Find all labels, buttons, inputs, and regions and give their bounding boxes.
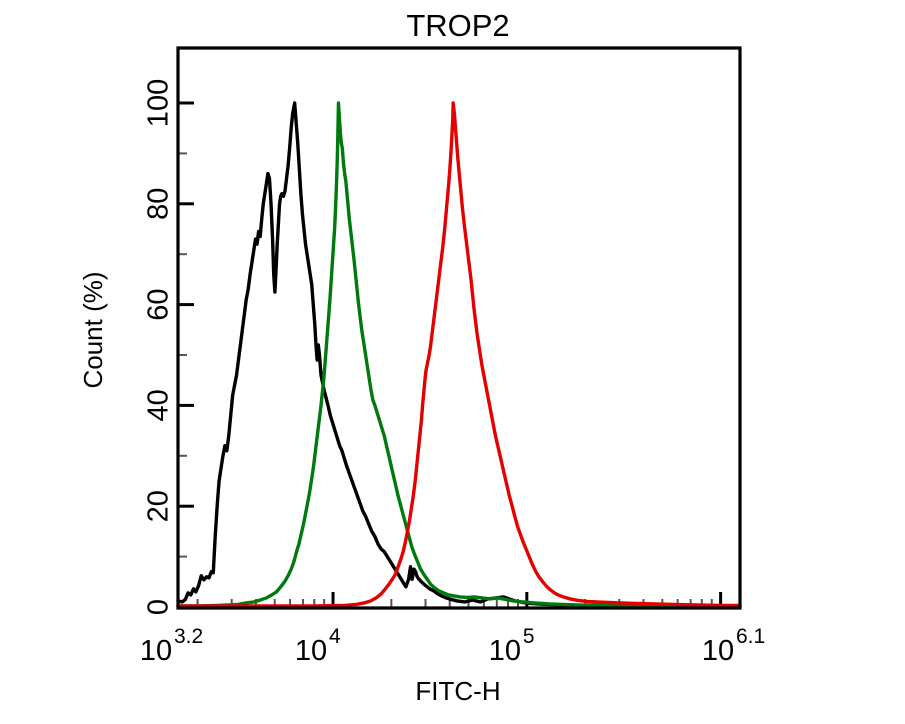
data-traces	[178, 103, 740, 606]
x-axis-label: FITC-H	[415, 676, 500, 706]
flow-cytometry-figure: TROP2 Count (%) FITC-H 103.2104105106.10…	[0, 0, 905, 724]
y-tick-label: 100	[143, 79, 175, 127]
tick-labels: 103.2104105106.1020406080100	[140, 79, 765, 667]
svg-text:10: 10	[489, 635, 521, 667]
y-tick-label: 20	[143, 490, 175, 522]
x-tick-label: 105	[489, 625, 535, 667]
red-trace	[178, 103, 740, 606]
svg-text:10: 10	[295, 635, 327, 667]
svg-text:3.2: 3.2	[174, 625, 203, 648]
y-tick-label: 0	[143, 599, 175, 615]
svg-text:5: 5	[523, 625, 535, 648]
plot-frame	[178, 48, 740, 608]
y-tick-label: 80	[143, 188, 175, 220]
x-tick-label: 106.1	[702, 625, 765, 667]
histogram-plot: TROP2 Count (%) FITC-H 103.2104105106.10…	[0, 0, 905, 724]
y-axis-label: Count (%)	[78, 271, 108, 388]
page-title: TROP2	[406, 8, 509, 43]
svg-text:6.1: 6.1	[736, 625, 765, 648]
x-tick-label: 104	[295, 625, 341, 667]
svg-text:4: 4	[329, 625, 341, 648]
y-tick-label: 40	[143, 389, 175, 421]
y-tick-label: 60	[143, 288, 175, 320]
svg-text:10: 10	[702, 635, 734, 667]
x-tick-label: 103.2	[140, 625, 203, 667]
svg-text:10: 10	[140, 635, 172, 667]
